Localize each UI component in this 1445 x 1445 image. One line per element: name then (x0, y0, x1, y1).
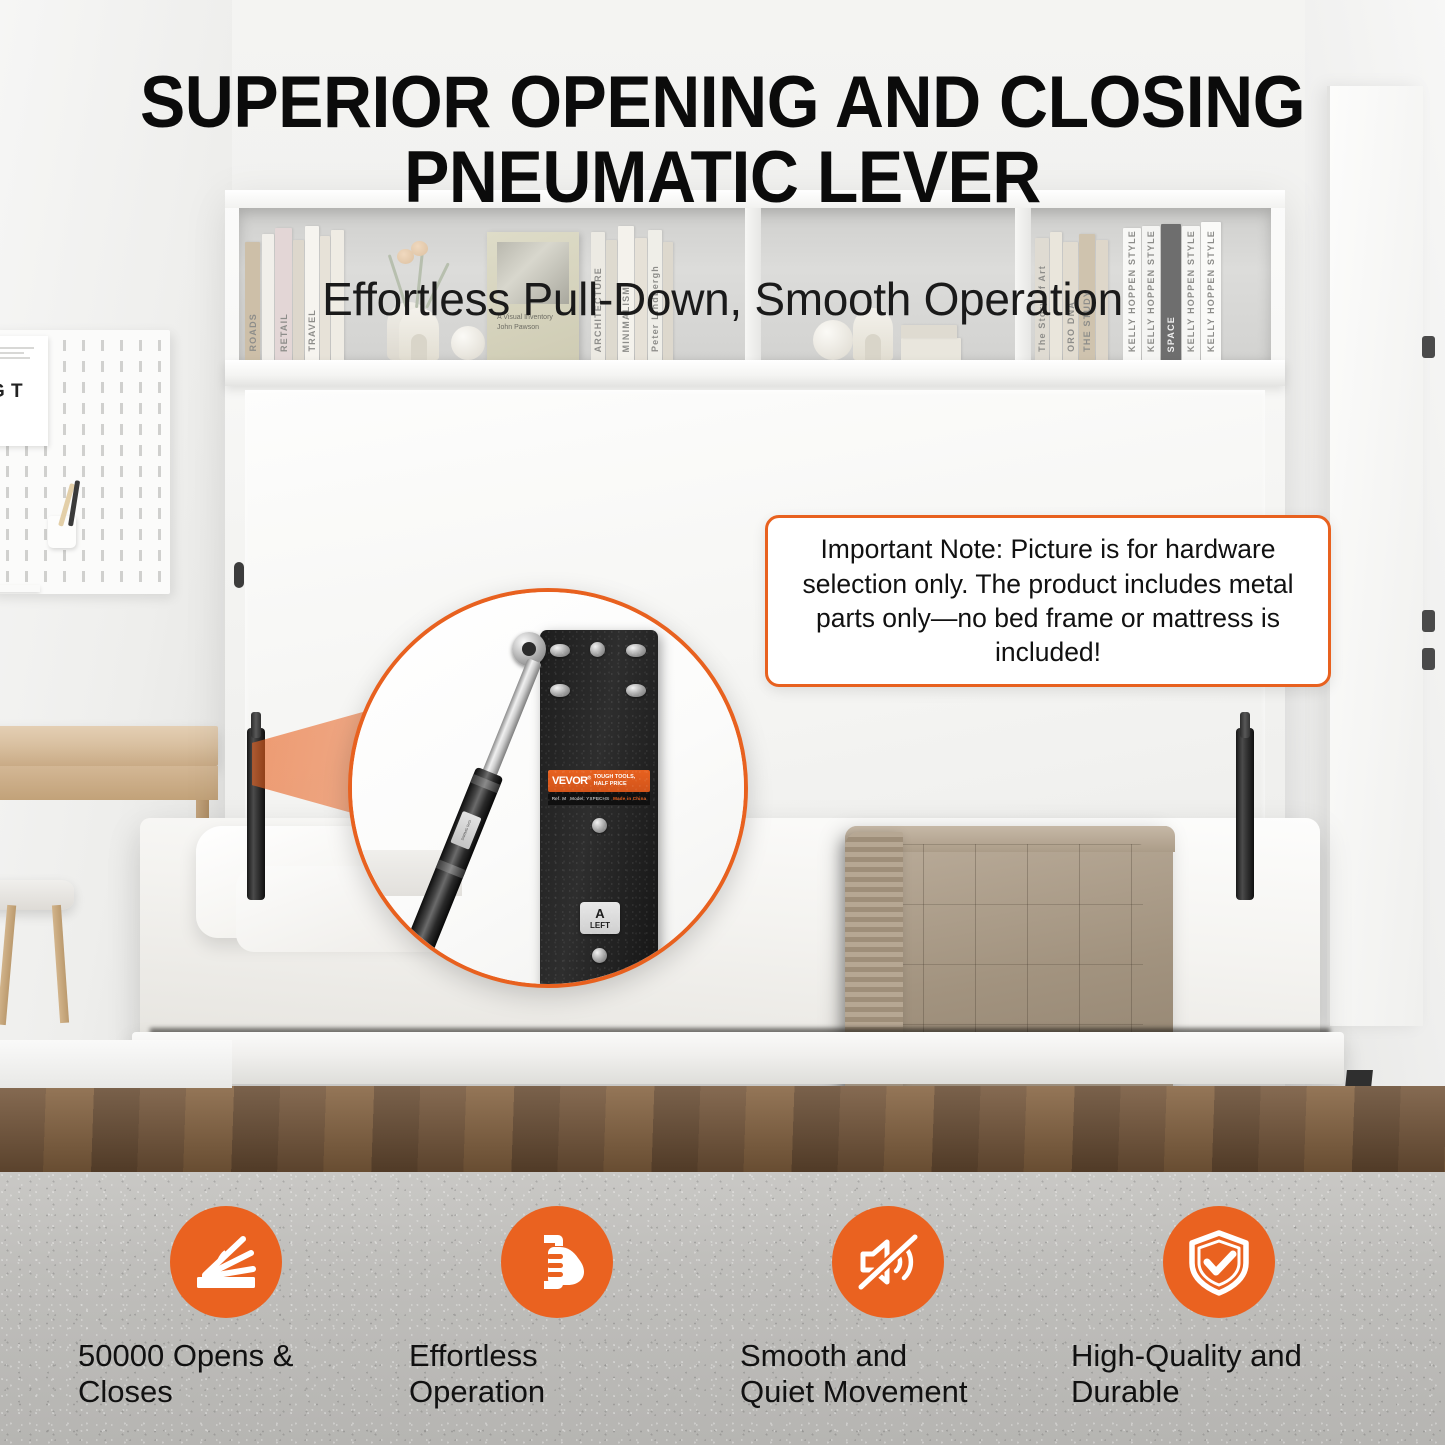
orientation-sticker: A LEFT (580, 902, 620, 934)
gas-strut-rod-left (251, 712, 261, 738)
hinge-motion-icon (191, 1227, 261, 1297)
important-note-text: Important Note: Picture is for hardware … (792, 532, 1304, 670)
screw-icon (592, 948, 607, 963)
pegboard-shelf (0, 585, 40, 592)
label-fineprint: Ref. M Model: YXPBCHS Made in China (548, 792, 650, 805)
shelf-board (225, 360, 1285, 386)
brand-tagline: TOUGH TOOLS, HALF PRICE (594, 774, 636, 788)
screw-icon (626, 644, 646, 657)
cabinet-knob[interactable] (234, 562, 244, 588)
marketing-image: G T ROADS (0, 0, 1445, 1445)
screw-icon (550, 644, 570, 657)
door-hinge-mid (1422, 610, 1435, 632)
screw-icon (590, 642, 605, 657)
piston-band (436, 859, 466, 878)
gas-strut-rod-right (1240, 712, 1250, 738)
hand-grip-icon (522, 1227, 592, 1297)
mute-speaker-icon (853, 1227, 923, 1297)
headline-line-2: PNEUMATIC LEVER (51, 143, 1395, 212)
screw-icon (550, 684, 570, 697)
door-hinge-top (1422, 336, 1435, 358)
feature-label: EffortlessOperation (409, 1338, 705, 1411)
feature-icon-circle (170, 1206, 282, 1318)
desk-top (0, 726, 218, 766)
gas-strut-right (1236, 728, 1254, 900)
decor-sphere (813, 320, 853, 360)
product-detail-magnifier: VEVOR® TOUGH TOOLS, HALF PRICE Ref. M Mo… (348, 588, 748, 988)
screw-icon (592, 818, 607, 833)
feature-strip: 50000 Opens &Closes EffortlessOperation (0, 1206, 1445, 1411)
feature-icon-circle (1163, 1206, 1275, 1318)
feature-icon-circle (501, 1206, 613, 1318)
bed-frame-rail (132, 1032, 1344, 1084)
feature-item: 50000 Opens &Closes (78, 1206, 374, 1411)
feature-label: Smooth andQuiet Movement (740, 1338, 1036, 1411)
feature-label: 50000 Opens &Closes (78, 1338, 374, 1411)
sticker-letter: A (595, 907, 604, 920)
door-hinge-bottom (1422, 648, 1435, 670)
feature-item: Smooth andQuiet Movement (740, 1206, 1036, 1411)
feature-label: High-Quality andDurable (1071, 1338, 1367, 1411)
feature-item: EffortlessOperation (409, 1206, 705, 1411)
subheadline: Effortless Pull-Down, Smooth Operation (0, 272, 1445, 326)
flower-bloom (411, 241, 428, 256)
headline: SUPERIOR OPENING AND CLOSING PNEUMATIC L… (51, 68, 1395, 213)
baseboard (0, 1040, 232, 1088)
pegboard-poster: G T (0, 336, 48, 446)
screw-icon (626, 684, 646, 697)
feature-icon-circle (832, 1206, 944, 1318)
shield-check-icon (1184, 1227, 1254, 1297)
mounting-plate: VEVOR® TOUGH TOOLS, HALF PRICE Ref. M Mo… (540, 630, 658, 988)
headline-line-1: SUPERIOR OPENING AND CLOSING (140, 62, 1305, 143)
decor-sphere (451, 326, 485, 360)
piston-band (470, 774, 500, 793)
wall-pegboard: G T (0, 330, 170, 594)
sticker-side: LEFT (590, 922, 610, 930)
important-note-box: Important Note: Picture is for hardware … (765, 515, 1331, 687)
poster-text: G T (0, 383, 44, 401)
book-spine (901, 325, 957, 338)
desk-drawer-front (0, 766, 218, 800)
vevor-brand-label: VEVOR® TOUGH TOOLS, HALF PRICE (548, 770, 650, 792)
door-panel (1327, 86, 1423, 1026)
brand-name: VEVOR® (552, 776, 591, 787)
feature-item: High-Quality andDurable (1071, 1206, 1367, 1411)
book-spine (901, 338, 961, 360)
